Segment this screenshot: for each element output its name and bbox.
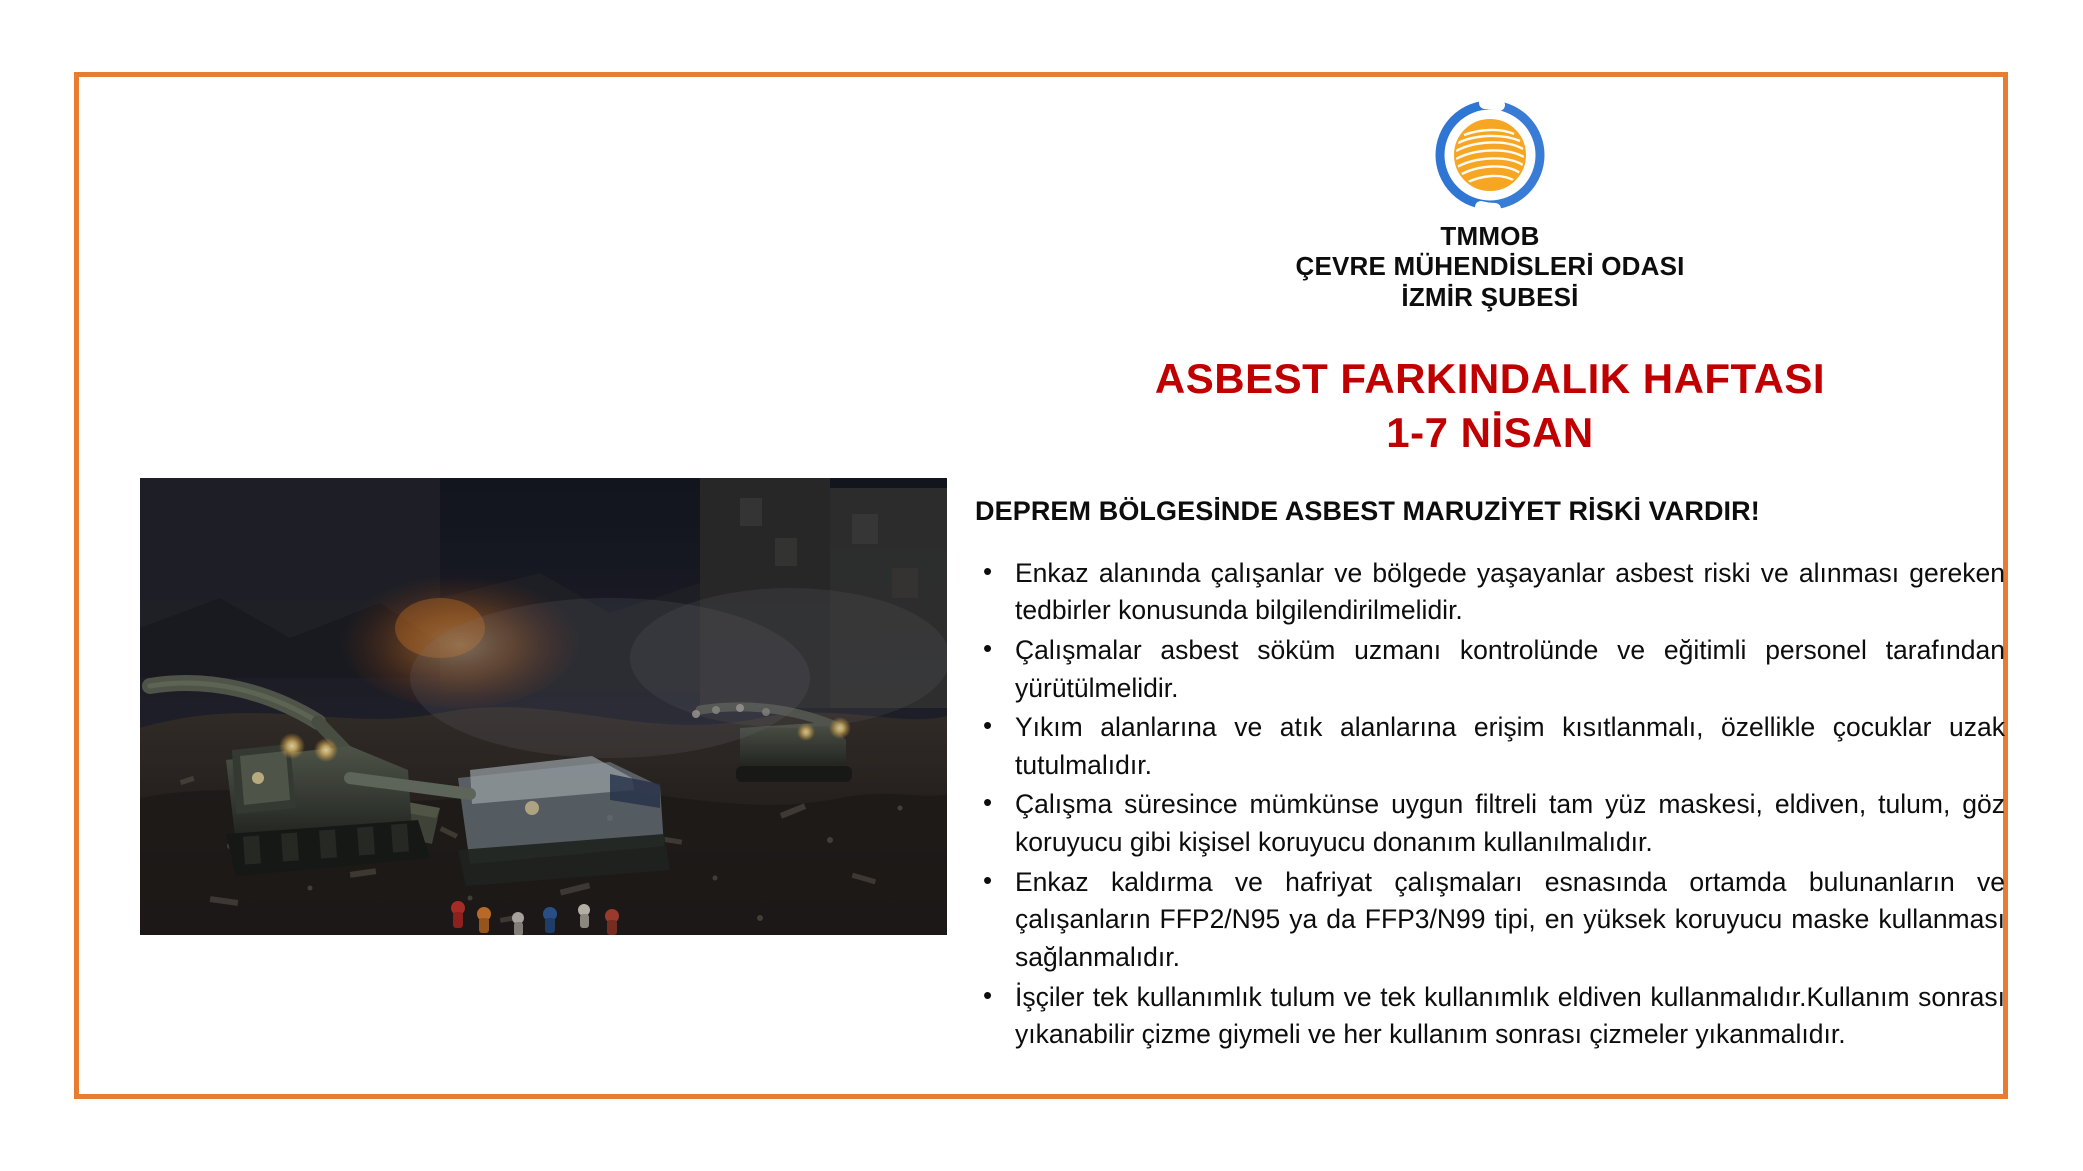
list-item: İşçiler tek kullanımlık tulum ve tek kul… [975, 979, 2005, 1054]
bullet-text: Çalışmalar asbest söküm uzmanı kontrolün… [1015, 635, 2005, 703]
title-line-2: 1-7 NİSAN [975, 406, 2005, 460]
list-item: Enkaz alanında çalışanlar ve bölgede yaş… [975, 555, 2005, 630]
bullet-text: Yıkım alanlarına ve atık alanlarına eriş… [1015, 712, 2005, 780]
bullet-text: Enkaz kaldırma ve hafriyat çalışmaları e… [1015, 867, 2005, 972]
list-item: Çalışma süresince mümkünse uygun filtrel… [975, 786, 2005, 861]
bullet-text: İşçiler tek kullanımlık tulum ve tek kul… [1015, 982, 2005, 1050]
bullet-text: Enkaz alanında çalışanlar ve bölgede yaş… [1015, 558, 2005, 626]
org-line-branch: İZMİR ŞUBESİ [975, 282, 2005, 312]
title-line-1: ASBEST FARKINDALIK HAFTASI [975, 352, 2005, 406]
rubble-scene-illustration [140, 478, 947, 935]
warning-subtitle: DEPREM BÖLGESİNDE ASBEST MARUZİYET RİSKİ… [975, 496, 2005, 527]
list-item: Enkaz kaldırma ve hafriyat çalışmaları e… [975, 864, 2005, 977]
slide: TMMOB ÇEVRE MÜHENDİSLERİ ODASI İZMİR ŞUB… [0, 0, 2083, 1171]
list-item: Çalışmalar asbest söküm uzmanı kontrolün… [975, 632, 2005, 707]
bullet-text: Çalışma süresince mümkünse uygun filtrel… [1015, 789, 2005, 857]
organization-names: TMMOB ÇEVRE MÜHENDİSLERİ ODASI İZMİR ŞUB… [975, 221, 2005, 312]
recommendation-list: Enkaz alanında çalışanlar ve bölgede yaş… [975, 555, 2005, 1054]
content-column: TMMOB ÇEVRE MÜHENDİSLERİ ODASI İZMİR ŞUB… [975, 95, 2005, 1056]
main-title: ASBEST FARKINDALIK HAFTASI 1-7 NİSAN [975, 352, 2005, 460]
org-line-tmmob: TMMOB [975, 221, 2005, 251]
earthquake-rubble-photo [140, 478, 947, 935]
tmmob-globe-logo [1430, 95, 1550, 215]
list-item: Yıkım alanlarına ve atık alanlarına eriş… [975, 709, 2005, 784]
org-line-chamber: ÇEVRE MÜHENDİSLERİ ODASI [975, 251, 2005, 281]
organization-header: TMMOB ÇEVRE MÜHENDİSLERİ ODASI İZMİR ŞUB… [975, 95, 2005, 312]
